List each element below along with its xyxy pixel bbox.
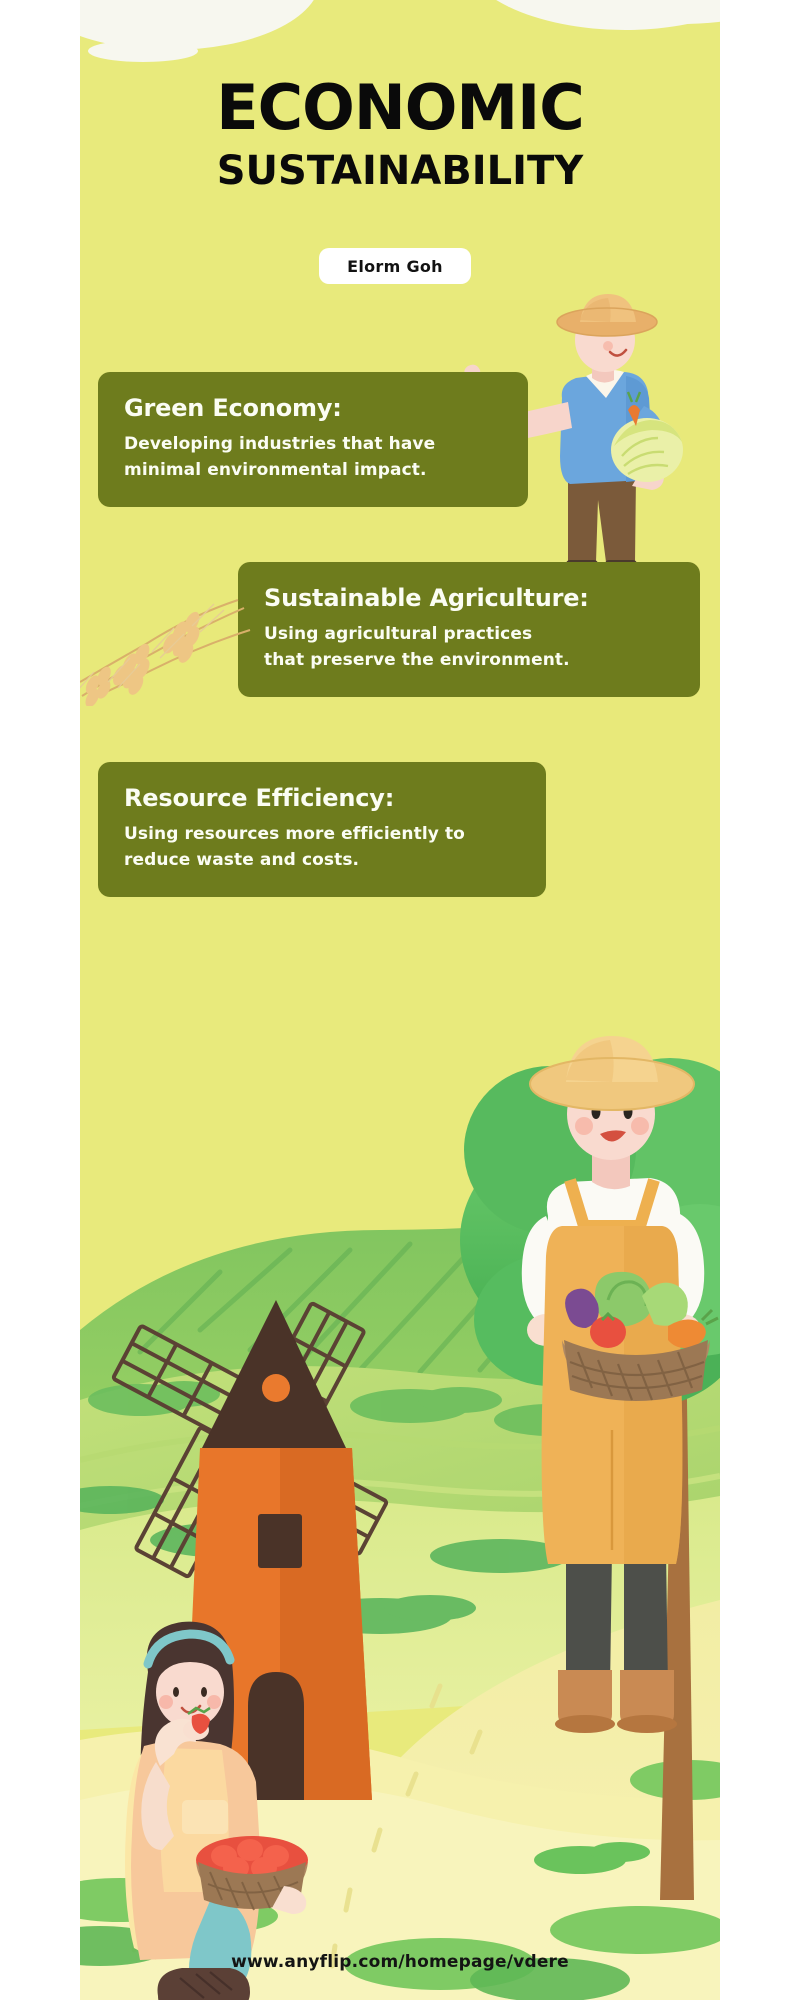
card-title: Green Economy:	[124, 394, 502, 422]
card-body: Developing industries that have minimal …	[124, 432, 502, 483]
card-sustainable-agriculture: Sustainable Agriculture: Using agricultu…	[238, 562, 700, 697]
card-resource-efficiency: Resource Efficiency: Using resources mor…	[98, 762, 546, 897]
title-sub: SUSTAINABILITY	[80, 150, 720, 192]
title-main: ECONOMIC	[80, 78, 720, 138]
card-body: Using resources more efficiently to redu…	[124, 822, 520, 873]
card-title: Resource Efficiency:	[124, 784, 520, 812]
card-body: Using agricultural practices that preser…	[264, 622, 674, 673]
wheat-stalks-illustration	[80, 596, 254, 706]
card-green-economy: Green Economy: Developing industries tha…	[98, 372, 528, 507]
page-title: ECONOMIC SUSTAINABILITY	[80, 78, 720, 192]
infographic-poster: ECONOMIC SUSTAINABILITY Elorm Goh	[80, 0, 720, 2000]
cloud-icon	[88, 40, 198, 62]
farm-scene-illustration	[80, 900, 720, 2000]
author-badge: Elorm Goh	[319, 248, 471, 284]
card-title: Sustainable Agriculture:	[264, 584, 674, 612]
footer-url[interactable]: www.anyflip.com/homepage/vdere	[80, 1952, 720, 1972]
